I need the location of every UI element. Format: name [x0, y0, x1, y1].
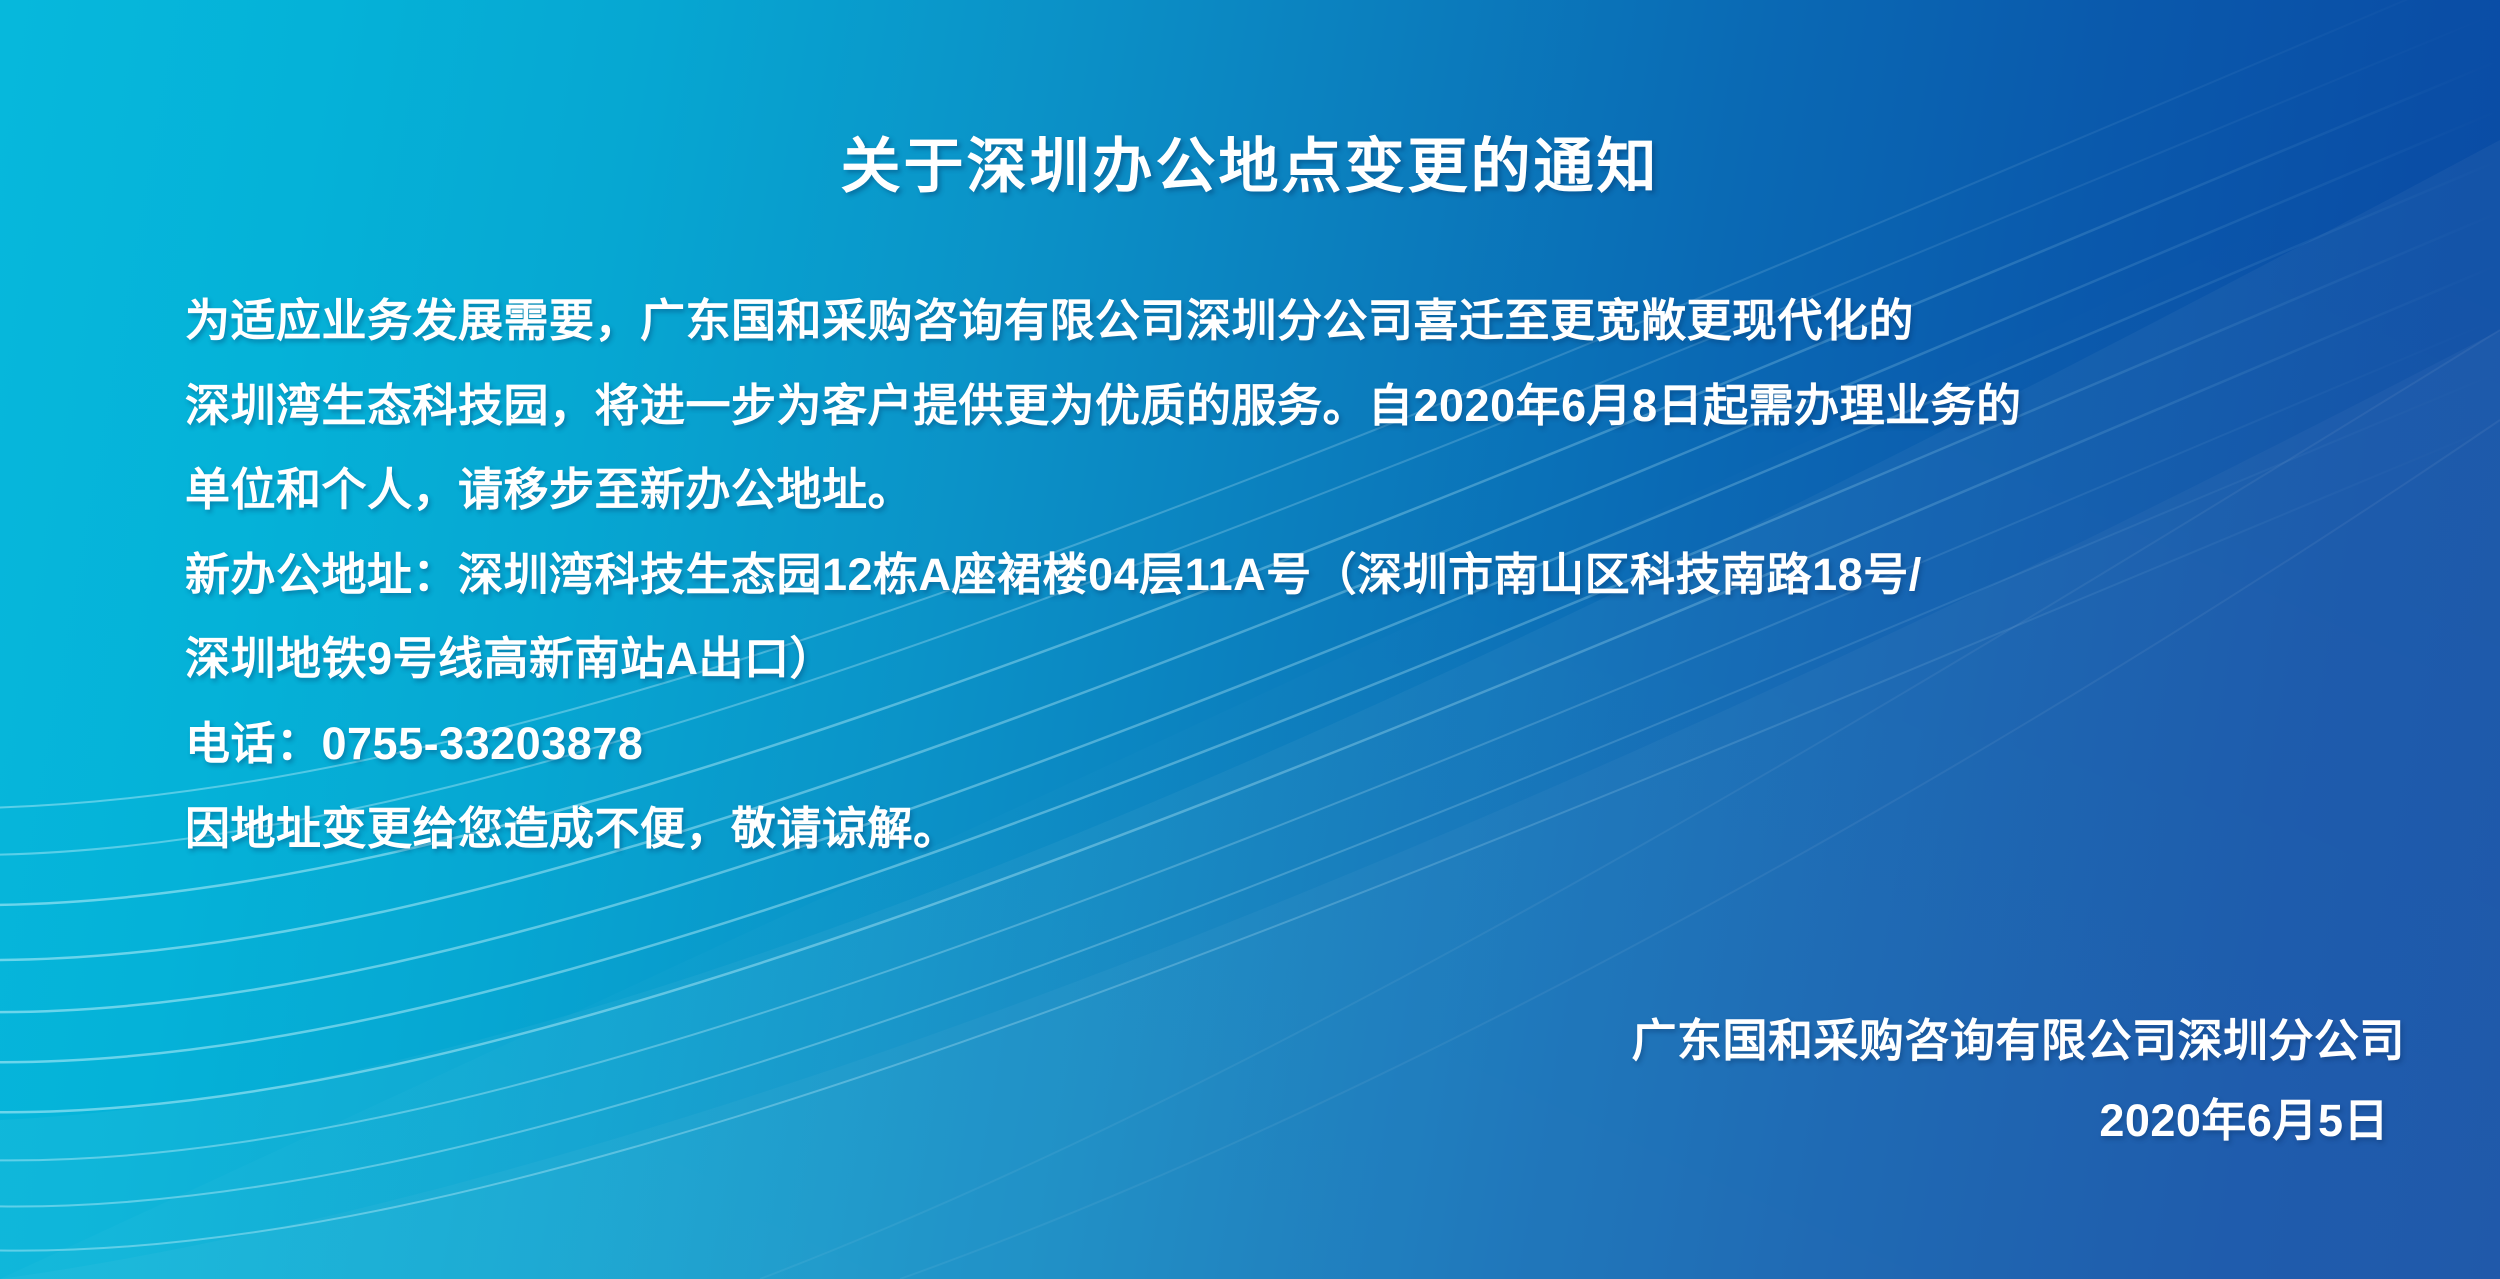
paragraph-line: 为适应业务发展需要，广东国和采购咨询有限公司深圳分公司喜迁至更宽敞更现代化的	[95, 279, 2405, 364]
signature-block: 广东国和采购咨询有限公司深圳分公司 2020年6月5日	[1631, 1001, 2405, 1161]
paragraph-line: 深圳湾生态科技园，将进一步为客户提供更为优质的服务。自2020年6月8日起需办理…	[95, 364, 2405, 449]
signature-organization: 广东国和采购咨询有限公司深圳分公司	[1631, 1001, 2405, 1081]
page-title: 关于深圳办公地点变更的通知	[95, 0, 2405, 205]
notice-body: 为适应业务发展需要，广东国和采购咨询有限公司深圳分公司喜迁至更宽敞更现代化的 深…	[95, 279, 2405, 871]
paragraph-line: 单位和个人，请移步至新办公地址。	[95, 448, 2405, 533]
notice-banner: 关于深圳办公地点变更的通知 为适应业务发展需要，广东国和采购咨询有限公司深圳分公…	[0, 0, 2500, 1279]
apology-line: 因地址变更给您造成不便，敬请谅解。	[95, 787, 2405, 872]
paragraph-address: 新办公地址：深圳湾科技生态园12栋A座裙楼04层11A号（深圳市南山区科技南路1…	[95, 533, 2405, 702]
signature-date: 2020年6月5日	[1631, 1081, 2405, 1161]
notice-content: 关于深圳办公地点变更的通知 为适应业务发展需要，广东国和采购咨询有限公司深圳分公…	[0, 0, 2500, 1279]
address-line: 深圳地铁9号线高新南站A出口）	[95, 617, 2405, 702]
phone-line: 电话：0755-33203878	[95, 702, 2405, 787]
paragraph-intro: 为适应业务发展需要，广东国和采购咨询有限公司深圳分公司喜迁至更宽敞更现代化的 深…	[95, 279, 2405, 533]
address-line: 新办公地址：深圳湾科技生态园12栋A座裙楼04层11A号（深圳市南山区科技南路1…	[95, 533, 2405, 618]
paragraph-apology: 因地址变更给您造成不便，敬请谅解。	[95, 787, 2405, 872]
paragraph-phone: 电话：0755-33203878	[95, 702, 2405, 787]
